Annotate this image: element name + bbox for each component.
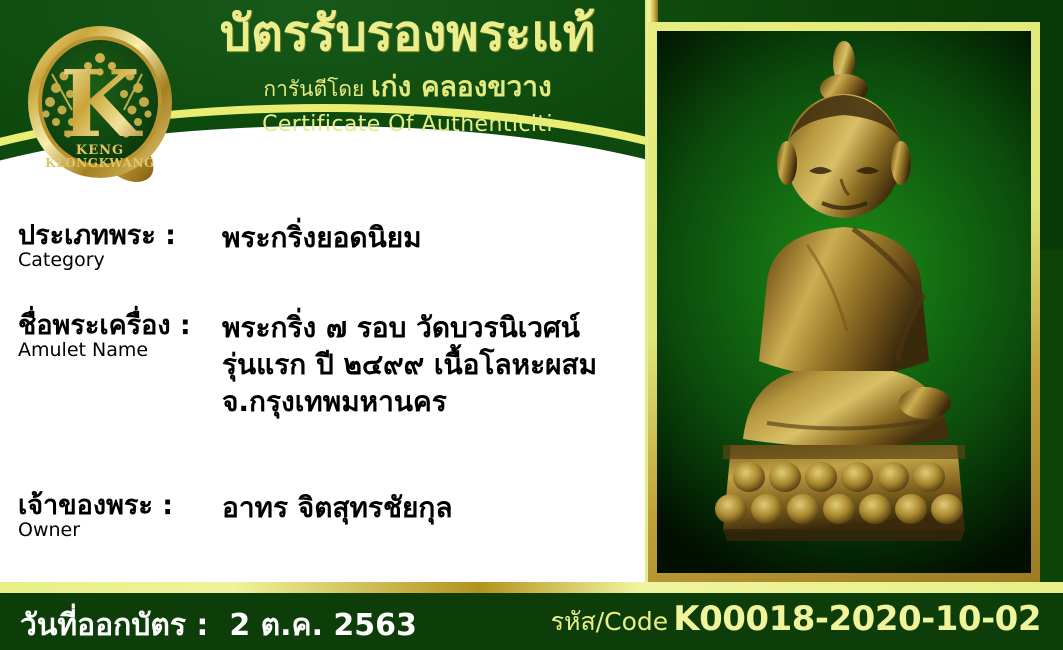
issue-date-block: วันที่ออกบัตร : 2 ต.ค. 2563 <box>20 602 417 649</box>
owner-label-english: Owner <box>18 520 173 542</box>
certificate-title-thai: บัตรรับรองพระแท้ <box>170 8 645 61</box>
footer-gold-band <box>0 582 1063 593</box>
amulet-name-value: พระกริ่ง ๗ รอบ วัดบวรนิเวศน์ รุ่นแรก ปี … <box>222 310 597 421</box>
keng-klongkwang-logo: K KENG KLONGKWANG <box>12 14 192 192</box>
statue-lap <box>743 371 951 447</box>
guarantee-name: เก่ง คลองขวาง <box>371 70 552 103</box>
field-amulet-name: ชื่อพระเครื่อง : Amulet Name <box>18 312 191 362</box>
header-text-block: บัตรรับรองพระแท้ การันตีโดย เก่ง คลองขวา… <box>170 8 645 137</box>
category-label-thai: ประเภทพระ : <box>18 222 176 250</box>
field-owner: เจ้าของพระ : Owner <box>18 492 173 542</box>
statue-lotus-base <box>715 445 965 541</box>
amulet-name-line-1: พระกริ่ง ๗ รอบ วัดบวรนิเวศน์ <box>222 310 597 347</box>
statue-head <box>777 94 911 218</box>
owner-label-thai: เจ้าของพระ : <box>18 492 173 520</box>
issue-date-label: วันที่ออกบัตร : <box>20 608 208 643</box>
footer-bar: วันที่ออกบัตร : 2 ต.ค. 2563 รหัส/Code K0… <box>0 593 1063 650</box>
certificate-code-block: รหัส/Code K00018-2020-10-02 <box>551 599 1041 642</box>
field-category: ประเภทพระ : Category <box>18 222 176 272</box>
buddha-statue-image <box>657 31 1031 573</box>
owner-value: อาทร จิตสุทรชัยกุล <box>222 490 452 527</box>
certificate-title-english: Certificate Of Authenticiti <box>170 112 645 137</box>
logo-name-line2: KLONGKWANG <box>45 156 155 170</box>
amulet-name-label-english: Amulet Name <box>18 340 191 362</box>
amulet-name-line-3: จ.กรุงเทพมหานคร <box>222 384 597 421</box>
amulet-name-label-thai: ชื่อพระเครื่อง : <box>18 312 191 340</box>
logo-letter-k: K <box>60 50 143 158</box>
issue-date-value: 2 ต.ค. 2563 <box>229 608 417 643</box>
amulet-photo <box>657 31 1031 573</box>
code-value: K00018-2020-10-02 <box>673 599 1041 639</box>
amulet-name-line-2: รุ่นแรก ปี ๒๔๙๙ เนื้อโลหะผสม <box>222 347 597 384</box>
logo-medallion-icon: K KENG KLONGKWANG <box>12 14 192 192</box>
code-label: รหัส/Code <box>551 607 669 636</box>
category-label-english: Category <box>18 250 176 272</box>
guarantee-line: การันตีโดย เก่ง คลองขวาง <box>170 65 645 109</box>
statue-torso <box>759 227 929 377</box>
category-value: พระกริ่งยอดนิยม <box>222 220 422 257</box>
certificate-fields: ประเภทพระ : Category พระกริ่งยอดนิยม ชื่… <box>0 196 645 582</box>
guarantee-prefix: การันตีโดย <box>263 77 371 101</box>
certificate-card: K KENG KLONGKWANG บัตรรับรองพระแท้ การัน… <box>0 0 1063 650</box>
